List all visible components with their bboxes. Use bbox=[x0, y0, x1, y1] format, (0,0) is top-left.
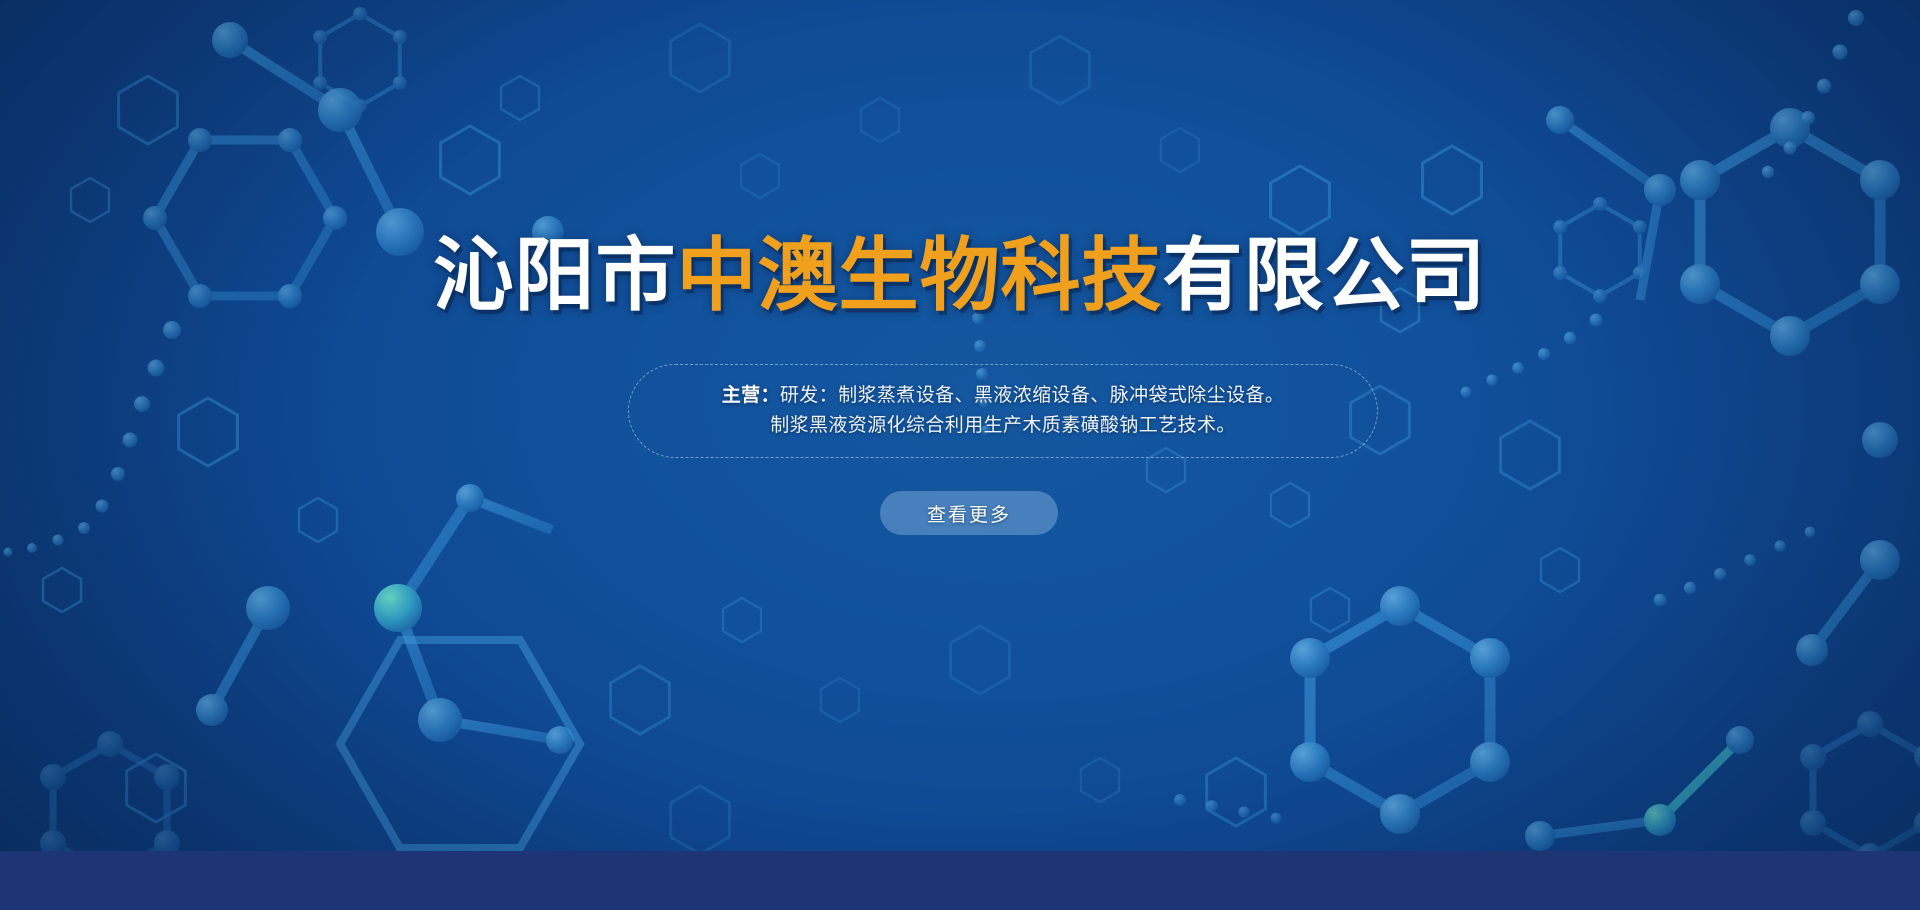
business-scope-label: 主营： bbox=[722, 385, 780, 406]
view-more-button[interactable]: 查看更多 bbox=[880, 491, 1058, 535]
business-scope-box: 主营：研发：制浆蒸煮设备、黑液浓缩设备、脉冲袋式除尘设备。 制浆黑液资源化综合利… bbox=[628, 364, 1378, 458]
title-suffix: 有限公司 bbox=[1163, 231, 1487, 320]
page-title: 沁阳市中澳生物科技有限公司 bbox=[0, 236, 1920, 316]
title-accent: 中澳生物科技 bbox=[677, 231, 1163, 320]
hero-content: 沁阳市中澳生物科技有限公司 主营：研发：制浆蒸煮设备、黑液浓缩设备、脉冲袋式除尘… bbox=[0, 0, 1920, 851]
business-scope-line-2: 制浆黑液资源化综合利用生产木质素磺酸钠工艺技术。 bbox=[770, 416, 1236, 437]
title-prefix: 沁阳市 bbox=[434, 231, 677, 320]
business-scope-line-1: 主营：研发：制浆蒸煮设备、黑液浓缩设备、脉冲袋式除尘设备。 bbox=[722, 386, 1285, 407]
bottom-strip bbox=[0, 851, 1920, 910]
hero-banner: 沁阳市中澳生物科技有限公司 主营：研发：制浆蒸煮设备、黑液浓缩设备、脉冲袋式除尘… bbox=[0, 0, 1920, 910]
business-scope-line-1-text: 研发：制浆蒸煮设备、黑液浓缩设备、脉冲袋式除尘设备。 bbox=[780, 385, 1284, 406]
